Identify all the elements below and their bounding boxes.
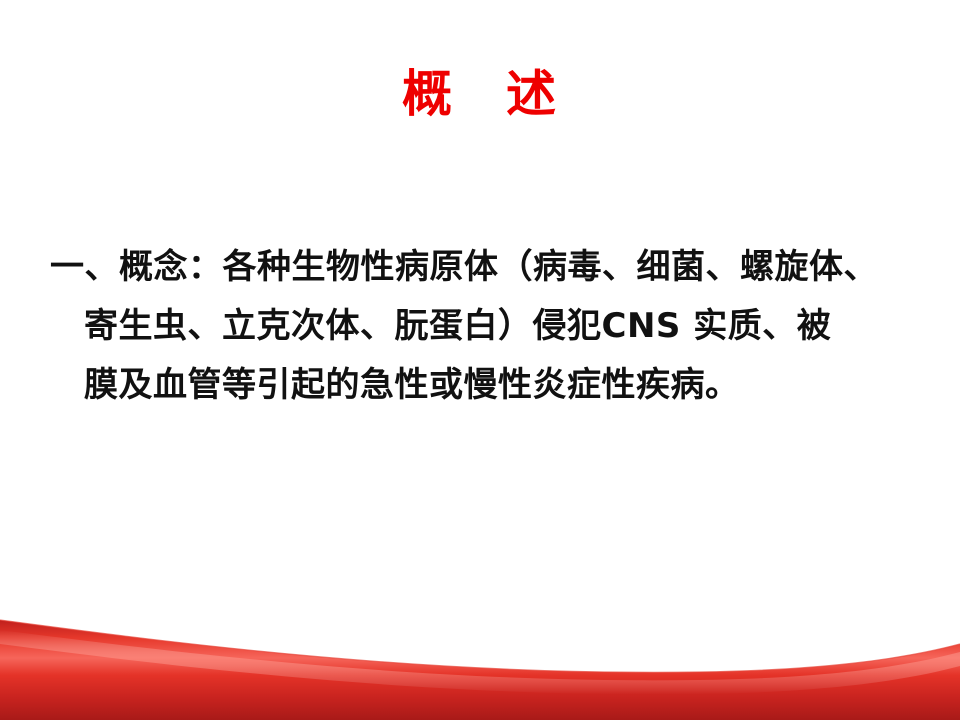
body-line-1: 一、概念：各种生物性病原体（病毒、细菌、螺旋体、: [50, 238, 930, 297]
ribbon-lower-band: [0, 656, 960, 720]
ribbon-highlight: [0, 630, 960, 694]
slide-body-text: 一、概念：各种生物性病原体（病毒、细菌、螺旋体、 寄生虫、立克次体、朊蛋白）侵犯…: [50, 238, 930, 415]
presentation-slide: 概 述 一、概念：各种生物性病原体（病毒、细菌、螺旋体、 寄生虫、立克次体、朊蛋…: [0, 0, 960, 720]
slide-title: 概 述: [0, 66, 960, 124]
ribbon-swoosh-graphic: [0, 600, 960, 720]
body-line-2: 寄生虫、立克次体、朊蛋白）侵犯CNS 实质、被: [50, 297, 930, 356]
ribbon-main-band: [0, 620, 960, 720]
floral-motif: [0, 633, 111, 714]
ribbon-decoration: [0, 600, 960, 720]
body-line-3: 膜及血管等引起的急性或慢性炎症性疾病。: [50, 356, 930, 415]
ribbon-top-edge: [0, 620, 960, 672]
